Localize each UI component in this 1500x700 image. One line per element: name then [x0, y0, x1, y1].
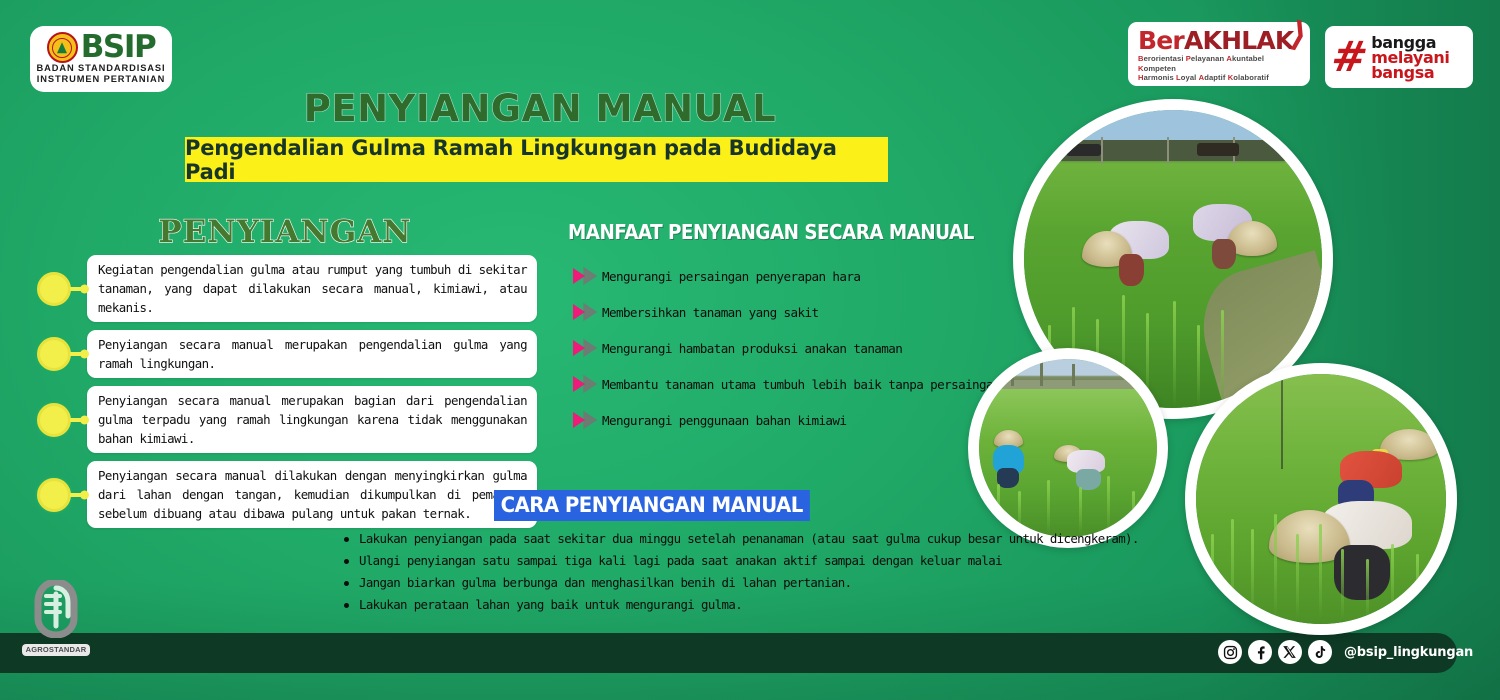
cara-section-heading: CARA PENYIANGAN MANUAL — [494, 490, 809, 521]
berakhlak-prefix: Ber — [1138, 26, 1184, 55]
double-chevron-icon — [572, 374, 602, 394]
list-item-text: Lakukan perataan lahan yang baik untuk m… — [359, 594, 742, 616]
bullet-dot-icon — [80, 415, 89, 424]
bullet-circle-icon — [37, 272, 71, 306]
leaf-hand-icon — [30, 580, 82, 638]
bangga-words: bangga melayani bangsa — [1371, 35, 1449, 80]
double-chevron-icon — [572, 410, 602, 430]
x-twitter-icon[interactable] — [1278, 640, 1302, 664]
instagram-icon[interactable] — [1218, 640, 1242, 664]
tree-trunk — [1011, 363, 1014, 386]
bullet-marker — [32, 335, 87, 373]
photo-farmer-closeup — [1185, 363, 1457, 635]
berakhlak-wordmark: BerAKHLAK ⟩ — [1138, 28, 1302, 54]
list-item-text: Penyiangan secara manual dilakukan denga… — [87, 461, 537, 528]
list-item-text: Mengurangi persaingan penyerapan hara — [602, 269, 860, 284]
list-item: Penyiangan secara manual dilakukan denga… — [32, 461, 537, 528]
double-chevron-icon — [572, 338, 602, 358]
middle-section-list: Mengurangi persaingan penyerapan hara Me… — [572, 258, 982, 438]
tiktok-icon[interactable] — [1308, 640, 1332, 664]
list-item-text: Penyiangan secara manual merupakan bagia… — [87, 386, 537, 453]
agrostandar-label: AGROSTANDAR — [22, 644, 90, 656]
bullet-circle-icon — [37, 403, 71, 437]
bsip-logo: BSIP BADAN STANDARDISASI INSTRUMEN PERTA… — [30, 26, 172, 92]
list-item: Mengurangi hambatan produksi anakan tana… — [572, 330, 982, 366]
list-item: Penyiangan secara manual merupakan bagia… — [32, 386, 537, 453]
page-subtitle: Pengendalian Gulma Ramah Lingkungan pada… — [185, 136, 888, 184]
bsip-subtitle-line2: INSTRUMEN PERTANIAN — [37, 74, 166, 85]
double-chevron-icon — [572, 266, 602, 286]
motorcycle — [1197, 143, 1239, 156]
list-item-text: Jangan biarkan gulma berbunga dan mengha… — [359, 572, 851, 594]
bsip-logo-row: BSIP — [47, 32, 156, 63]
farmer-pants — [997, 468, 1019, 489]
berakhlak-main-text: AKHLAK — [1184, 26, 1294, 55]
bullet-marker — [32, 270, 87, 308]
social-handle: @bsip_lingkungan — [1344, 645, 1473, 660]
berakhlak-logo: BerAKHLAK ⟩ Berorientasi Pelayanan Akunt… — [1128, 22, 1310, 86]
bullet-dot-icon — [344, 537, 349, 542]
bsip-wordmark: BSIP — [81, 32, 156, 63]
left-section-list: Kegiatan pengendalian gulma atau rumput … — [32, 255, 537, 536]
list-item-text: Penyiangan secara manual merupakan penge… — [87, 330, 537, 378]
photo-farmers-weeding-small — [968, 348, 1168, 548]
cara-section-list: Lakukan penyiangan pada saat sekitar dua… — [344, 528, 1044, 616]
list-item: Penyiangan secara manual merupakan penge… — [32, 330, 537, 378]
list-item-text: Ulangi penyiangan satu sampai tiga kali … — [359, 550, 1002, 572]
list-item-text: Mengurangi hambatan produksi anakan tana… — [602, 341, 902, 356]
bullet-dot-icon — [344, 603, 349, 608]
bullet-dot-icon — [344, 559, 349, 564]
list-item: Mengurangi penggunaan bahan kimiawi — [572, 402, 982, 438]
farmer-figure — [990, 430, 1040, 491]
list-item: Lakukan perataan lahan yang baik untuk m… — [344, 594, 1044, 616]
agrostandar-logo: AGROSTANDAR — [22, 578, 90, 656]
bullet-circle-icon — [37, 337, 71, 371]
farmer-figure — [1084, 217, 1173, 300]
rice-seal-icon — [47, 32, 78, 63]
fence-post — [1101, 137, 1103, 164]
social-links: @bsip_lingkungan — [1218, 640, 1473, 664]
farmer-figure — [1054, 441, 1115, 494]
list-item: Ulangi penyiangan satu sampai tiga kali … — [344, 550, 1044, 572]
berakhlak-tagline-2: Harmonis Loyal Adaptif Kolaboratif — [1138, 73, 1302, 83]
photo-content — [979, 359, 1157, 537]
photo-content — [1196, 374, 1446, 624]
tree-trunk — [1072, 364, 1075, 385]
bsip-subtitle-line1: BADAN STANDARDISASI — [36, 63, 165, 74]
list-item-text: Membersihkan tanaman yang sakit — [602, 305, 818, 320]
bullet-dot-icon — [80, 350, 89, 359]
bullet-marker — [32, 476, 87, 514]
subtitle-banner: Pengendalian Gulma Ramah Lingkungan pada… — [185, 137, 888, 182]
farmer-pants — [1119, 254, 1144, 286]
list-item: Jangan biarkan gulma berbunga dan mengha… — [344, 572, 1044, 594]
bangga-melayani-bangsa-logo: # bangga melayani bangsa — [1325, 26, 1473, 88]
list-item: Mengurangi persaingan penyerapan hara — [572, 258, 982, 294]
bullet-dot-icon — [80, 490, 89, 499]
page-title: PENYIANGAN MANUAL — [180, 88, 900, 130]
road-band — [979, 380, 1157, 389]
fence-post — [1042, 137, 1044, 164]
facebook-icon[interactable] — [1248, 640, 1272, 664]
bullet-dot-icon — [80, 284, 89, 293]
bullet-dot-icon — [344, 581, 349, 586]
list-item-text: Mengurangi penggunaan bahan kimiawi — [602, 413, 846, 428]
berakhlak-tagline-1: Berorientasi Pelayanan Akuntabel Kompete… — [1138, 54, 1302, 73]
hashtag-icon: # — [1328, 36, 1371, 78]
pole — [1281, 374, 1283, 469]
farmer-pants — [1212, 239, 1235, 269]
tree-trunk — [1040, 361, 1043, 386]
motorcycle — [1066, 144, 1102, 156]
left-section-heading: PENYIANGAN — [135, 215, 435, 249]
list-item-text: Membantu tanaman utama tumbuh lebih baik… — [602, 377, 1000, 392]
swoosh-icon: ⟩ — [1288, 17, 1309, 53]
list-item: Lakukan penyiangan pada saat sekitar dua… — [344, 528, 1044, 550]
bangga-word-3: bangsa — [1371, 65, 1449, 80]
list-item: Membersihkan tanaman yang sakit — [572, 294, 982, 330]
double-chevron-icon — [572, 302, 602, 322]
fence-post — [1167, 137, 1169, 164]
list-item-text: Kegiatan pengendalian gulma atau rumput … — [87, 255, 537, 322]
middle-section-heading: MANFAAT PENYIANGAN SECARA MANUAL — [568, 220, 974, 244]
bullet-marker — [32, 401, 87, 439]
bullet-circle-icon — [37, 478, 71, 512]
list-item: Membantu tanaman utama tumbuh lebih baik… — [572, 366, 982, 402]
list-item: Kegiatan pengendalian gulma atau rumput … — [32, 255, 537, 322]
list-item-text: Lakukan penyiangan pada saat sekitar dua… — [359, 528, 1139, 550]
